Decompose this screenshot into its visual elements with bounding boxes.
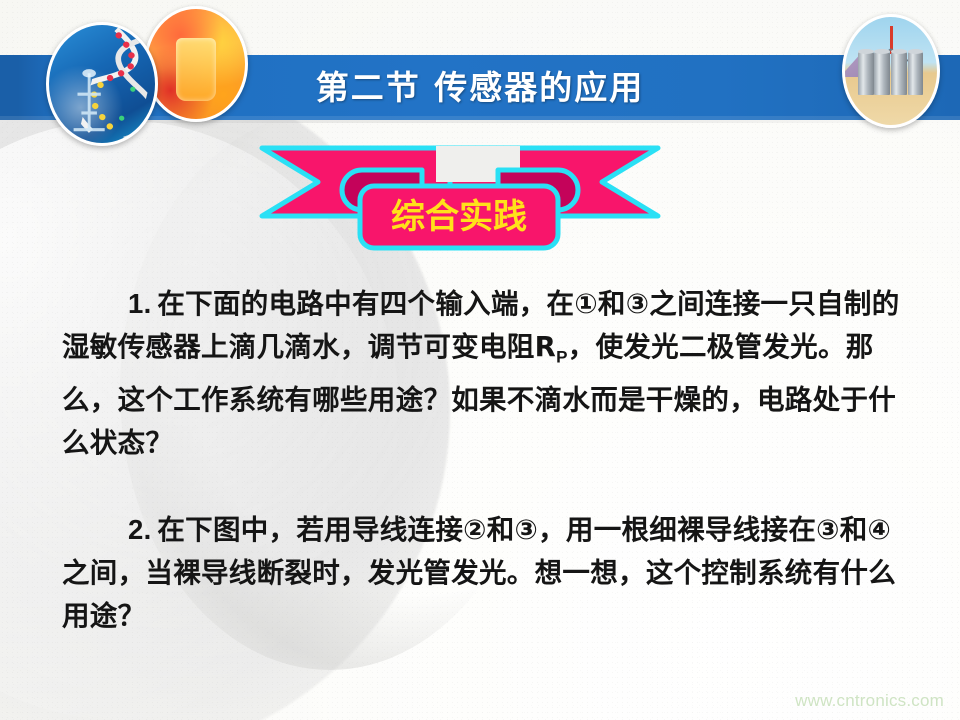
paragraph-2-number: 2. bbox=[128, 514, 152, 545]
paragraph-1-after-subscript: ， bbox=[568, 331, 596, 363]
paragraph-1-subscript: P bbox=[556, 348, 568, 367]
slide-canvas: 第二节 传感器的应用 bbox=[0, 0, 960, 720]
site-watermark: www.cntronics.com bbox=[795, 691, 944, 711]
paragraph-1-number: 1. bbox=[128, 288, 152, 319]
content-body: 1. 在下面的电路中有四个输入端，在①和③之间连接一只自制的湿敏传感器上滴几滴水… bbox=[62, 282, 904, 638]
paragraph-2-line-1: 在下图中，若用导线连接②和③，用一根细裸导线 bbox=[157, 514, 760, 546]
paragraph-1-line-1: 在下面的电路中有四个输入端，在①和③之间连 bbox=[157, 288, 732, 320]
ribbon-banner: 综合实践 bbox=[0, 0, 960, 270]
paragraph-2: 2. 在下图中，若用导线连接②和③，用一根细裸导线接在③和④之间，当裸导线断裂时… bbox=[62, 508, 904, 638]
paragraph-1: 1. 在下面的电路中有四个输入端，在①和③之间连接一只自制的湿敏传感器上滴几滴水… bbox=[62, 282, 904, 465]
ribbon-label: 综合实践 bbox=[391, 197, 527, 237]
